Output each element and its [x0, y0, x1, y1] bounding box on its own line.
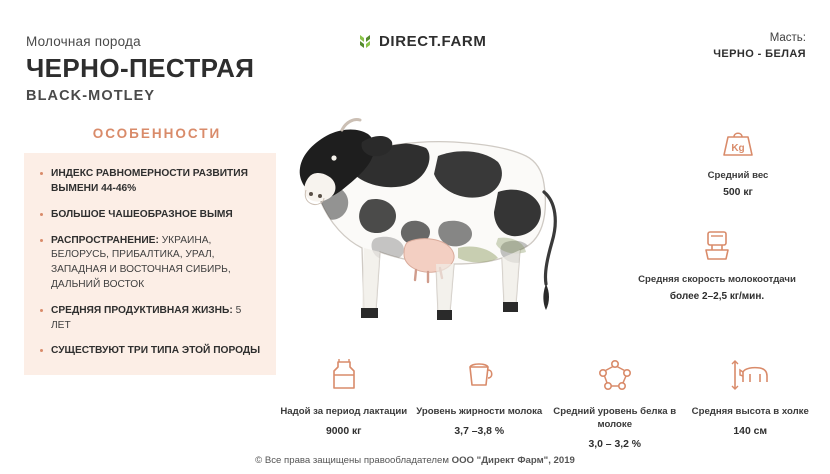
stat-milk-protein: Средний уровень белка в молоке 3,0 – 3,2…	[547, 358, 683, 450]
footer-text: Все права защищены правообладателем	[265, 455, 449, 466]
footer-company: ООО "Директ Фарм", 2019	[452, 455, 575, 466]
feature-bold-text: РАСПРОСТРАНЕНИЕ:	[51, 235, 159, 246]
breed-kind-label: Молочная порода	[26, 34, 290, 49]
stat-caption: Уровень жирности молока	[412, 406, 548, 419]
leaf-logo-icon	[358, 34, 372, 50]
feature-bold-text: ИНДЕКС РАВНОМЕРНОСТИ РАЗВИТИЯ ВЫМЕНИ 44-…	[51, 168, 248, 194]
stat-caption: Средний вес	[648, 170, 828, 183]
stat-value: более 2–2,5 кг/мин.	[604, 291, 830, 302]
copyright-icon: ©	[255, 455, 262, 466]
stat-lactation-yield: Надой за период лактации 9000 кг	[276, 358, 412, 450]
stat-value: 3,0 – 3,2 %	[547, 439, 683, 450]
bottom-stats-row: Надой за период лактации 9000 кг Уровень…	[276, 358, 818, 450]
stat-caption: Средняя высота в холке	[683, 406, 819, 419]
page-title: ЧЕРНО-ПЕСТРАЯ	[26, 55, 290, 82]
list-item: ИНДЕКС РАВНОМЕРНОСТИ РАЗВИТИЯ ВЫМЕНИ 44-…	[40, 167, 262, 197]
brand-logo: DIRECT.FARM	[358, 33, 486, 50]
cow-illustration	[258, 72, 598, 347]
milking-machine-icon	[604, 228, 830, 267]
footer-copyright: © Все права защищены правообладателем ОО…	[0, 455, 830, 466]
stat-value: 9000 кг	[276, 426, 412, 437]
stat-value: 500 кг	[648, 187, 828, 198]
stat-milking-speed: Средняя скорость молокоотдачи более 2–2,…	[604, 228, 830, 302]
kg-weight-icon: Kg	[648, 126, 828, 163]
breed-info-column: Молочная порода ЧЕРНО-ПЕСТРАЯ BLACK-MOTL…	[24, 34, 290, 375]
molecule-icon	[547, 358, 683, 397]
feature-bold-text: СУЩЕСТВУЮТ ТРИ ТИПА ЭТОЙ ПОРОДЫ	[51, 345, 260, 356]
svg-text:Kg: Kg	[731, 143, 744, 154]
list-item: БОЛЬШОЕ ЧАШЕОБРАЗНОЕ ВЫМЯ	[40, 208, 262, 223]
stat-value: 3,7 –3,8 %	[412, 426, 548, 437]
stat-value: 140 см	[683, 426, 819, 437]
breed-name-english: BLACK-MOTLEY	[26, 88, 290, 104]
feature-bold-text: СРЕДНЯЯ ПРОДУКТИВНАЯ ЖИЗНЬ:	[51, 305, 233, 316]
stat-milk-fat: Уровень жирности молока 3,7 –3,8 %	[412, 358, 548, 450]
coat-color-label: Масть:	[646, 32, 806, 44]
milk-cup-icon	[412, 358, 548, 397]
logo-text: DIRECT.FARM	[379, 33, 486, 50]
stat-caption: Надой за период лактации	[276, 406, 412, 419]
feature-bold-text: БОЛЬШОЕ ЧАШЕОБРАЗНОЕ ВЫМЯ	[51, 209, 233, 220]
cow-height-icon	[683, 358, 819, 397]
stat-withers-height: Средняя высота в холке 140 см	[683, 358, 819, 450]
list-item: РАСПРОСТРАНЕНИЕ: УКРАИНА, БЕЛОРУСЬ, ПРИБ…	[40, 234, 262, 293]
list-item: СРЕДНЯЯ ПРОДУКТИВНАЯ ЖИЗНЬ: 5 ЛЕТ	[40, 304, 262, 334]
stat-average-weight: Kg Средний вес 500 кг	[648, 126, 828, 198]
milk-can-icon	[276, 358, 412, 397]
stat-caption: Средний уровень белка в молоке	[547, 406, 683, 432]
features-panel: ИНДЕКС РАВНОМЕРНОСТИ РАЗВИТИЯ ВЫМЕНИ 44-…	[24, 153, 276, 375]
coat-color-block: Масть: ЧЕРНО - БЕЛАЯ	[646, 32, 806, 60]
coat-color-value: ЧЕРНО - БЕЛАЯ	[646, 48, 806, 60]
features-heading: ОСОБЕННОСТИ	[24, 126, 290, 141]
infographic-page: Молочная порода ЧЕРНО-ПЕСТРАЯ BLACK-MOTL…	[0, 0, 830, 474]
list-item: СУЩЕСТВУЮТ ТРИ ТИПА ЭТОЙ ПОРОДЫ	[40, 344, 262, 359]
stat-caption: Средняя скорость молокоотдачи	[604, 274, 830, 287]
